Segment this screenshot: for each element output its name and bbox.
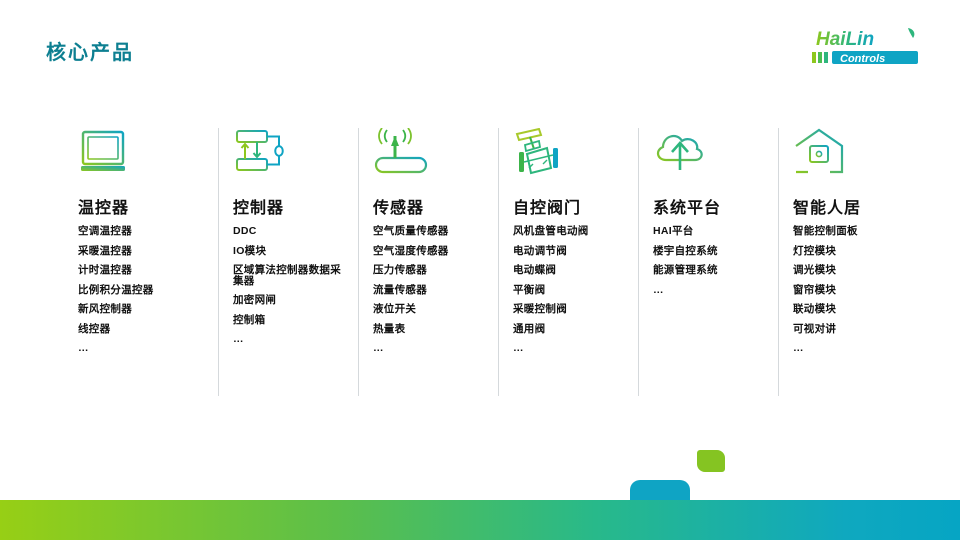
controller-modules-icon [233,128,358,180]
svg-text:HaiLin: HaiLin [816,29,874,50]
list-item: 空气湿度传感器 [373,246,491,257]
list-item-more: … [233,334,351,345]
control-valve-icon [513,128,638,180]
category-item-list: 空调温控器 采暖温控器 计时温控器 比例积分温控器 新风控制器 线控器 … [78,226,218,354]
list-item: IO模块 [233,246,351,257]
category-title: 温控器 [78,194,218,218]
category-item-list: 智能控制面板 灯控模块 调光模块 窗帘模块 联动模块 可视对讲 … [793,226,918,354]
list-item: 电动调节阀 [513,246,631,257]
category-column-1: 温控器 空调温控器 采暖温控器 计时温控器 比例积分温控器 新风控制器 线控器 … [78,128,218,396]
list-item: 控制箱 [233,315,351,326]
category-column-4: 自控阀门 风机盘管电动阀 电动调节阀 电动蝶阀 平衡阀 采暖控制阀 通用阀 … [498,128,638,396]
list-item: 调光模块 [793,265,911,276]
wireless-sensor-icon [373,128,498,180]
product-categories: 温控器 空调温控器 采暖温控器 计时温控器 比例积分温控器 新风控制器 线控器 … [78,128,954,396]
list-item: 风机盘管电动阀 [513,226,631,237]
page-title: 核心产品 [46,36,134,65]
category-title: 传感器 [373,194,498,218]
cloud-upload-icon [653,128,778,180]
list-item: 窗帘模块 [793,285,911,296]
decoration-square-green [697,450,725,472]
category-column-3: 传感器 空气质量传感器 空气湿度传感器 压力传感器 流量传感器 液位开关 热量表… [358,128,498,396]
category-item-list: DDC IO模块 区域算法控制器数据采集器 加密网闸 控制箱 … [233,226,358,345]
list-item: 能源管理系统 [653,265,771,276]
bottom-gradient-bar [0,500,960,540]
list-item: 通用阀 [513,324,631,335]
list-item: 楼宇自控系统 [653,246,771,257]
list-item: 平衡阀 [513,285,631,296]
list-item: 智能控制面板 [793,226,911,237]
list-item: 计时温控器 [78,265,196,276]
list-item: 空气质量传感器 [373,226,491,237]
category-item-list: 空气质量传感器 空气湿度传感器 压力传感器 流量传感器 液位开关 热量表 … [373,226,498,354]
thermostat-panel-icon [78,128,218,180]
list-item-more: … [653,285,771,296]
slide-root: 核心产品 HaiLin Controls [0,0,960,540]
list-item: 新风控制器 [78,304,196,315]
list-item: HAI平台 [653,226,771,237]
list-item: 热量表 [373,324,491,335]
list-item: 比例积分温控器 [78,285,196,296]
category-item-list: 风机盘管电动阀 电动调节阀 电动蝶阀 平衡阀 采暖控制阀 通用阀 … [513,226,638,354]
category-title: 自控阀门 [513,194,638,218]
list-item: 空调温控器 [78,226,196,237]
category-title: 控制器 [233,194,358,218]
category-column-6: 智能人居 智能控制面板 灯控模块 调光模块 窗帘模块 联动模块 可视对讲 … [778,128,918,396]
list-item: 可视对讲 [793,324,911,335]
list-item: 加密网闸 [233,295,351,306]
list-item: DDC [233,226,351,237]
category-column-2: 控制器 DDC IO模块 区域算法控制器数据采集器 加密网闸 控制箱 … [218,128,358,396]
category-item-list: HAI平台 楼宇自控系统 能源管理系统 … [653,226,778,295]
list-item: 液位开关 [373,304,491,315]
list-item: 联动模块 [793,304,911,315]
smart-home-chip-icon [793,128,918,180]
list-item: 电动蝶阀 [513,265,631,276]
list-item: 线控器 [78,324,196,335]
list-item: 区域算法控制器数据采集器 [233,265,351,286]
hailin-controls-logo: HaiLin Controls [796,26,932,70]
list-item: 采暖温控器 [78,246,196,257]
list-item: 流量传感器 [373,285,491,296]
list-item-more: … [78,343,196,354]
category-title: 智能人居 [793,194,918,218]
svg-text:Controls: Controls [840,53,885,65]
list-item: 灯控模块 [793,246,911,257]
list-item: 压力传感器 [373,265,491,276]
list-item-more: … [793,343,911,354]
list-item-more: … [513,343,631,354]
category-column-5: 系统平台 HAI平台 楼宇自控系统 能源管理系统 … [638,128,778,396]
category-title: 系统平台 [653,194,778,218]
list-item-more: … [373,343,491,354]
list-item: 采暖控制阀 [513,304,631,315]
